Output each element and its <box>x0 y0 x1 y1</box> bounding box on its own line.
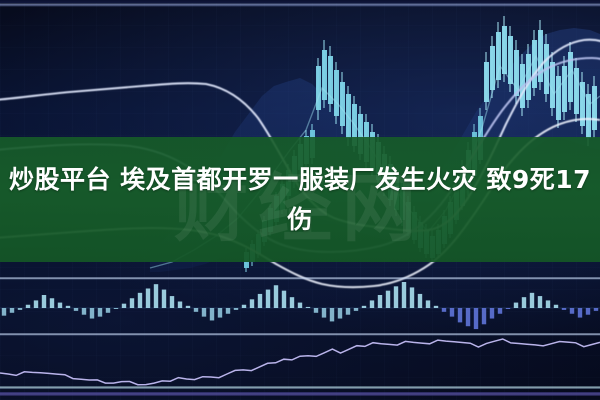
macd-bar <box>234 308 238 310</box>
macd-bar <box>322 308 326 318</box>
macd-bar <box>18 308 22 310</box>
macd-bar <box>538 296 542 308</box>
panel-divider-price-macd <box>0 277 600 280</box>
macd-bar <box>130 298 134 308</box>
macd-bar <box>434 306 438 308</box>
macd-bar <box>26 305 30 308</box>
line-pane <box>0 339 600 385</box>
macd-bar <box>2 308 6 316</box>
macd-bar <box>162 290 166 308</box>
macd-bar <box>354 308 358 311</box>
macd-bar <box>154 284 158 308</box>
macd-bar <box>562 308 566 310</box>
macd-bar <box>442 308 446 312</box>
macd-bar <box>546 300 550 308</box>
panel-divider-macd-line <box>0 333 600 336</box>
macd-bar <box>194 308 198 312</box>
macd-bar <box>50 298 54 308</box>
macd-bar <box>106 308 110 313</box>
macd-bar <box>522 297 526 308</box>
macd-bar <box>370 300 374 308</box>
macd-bar <box>242 305 246 308</box>
macd-bar <box>362 306 366 308</box>
indicator-line <box>0 339 600 385</box>
macd-bar <box>258 294 262 308</box>
macd-bar <box>450 308 454 317</box>
macd-bar <box>578 308 582 318</box>
macd-bar <box>554 305 558 308</box>
macd-bar <box>418 294 422 308</box>
macd-bar <box>570 308 574 314</box>
macd-bar <box>218 308 222 318</box>
panel-divider-bottom <box>0 386 600 389</box>
macd-bar <box>514 303 518 308</box>
macd-bar <box>498 308 502 314</box>
macd-bar <box>122 304 126 308</box>
macd-bar <box>482 308 486 324</box>
macd-bar <box>338 308 342 319</box>
macd-bar <box>10 308 14 313</box>
macd-bar <box>474 308 478 329</box>
macd-bar <box>298 303 302 308</box>
macd-bar <box>186 306 190 308</box>
macd-bar <box>314 308 318 313</box>
macd-bar <box>490 308 494 319</box>
news-thumbnail-image: 财经网 炒股平台 埃及首都开罗一服装厂发生火灾 致9死17伤 <box>0 0 600 400</box>
frame-top-highlight <box>0 3 600 7</box>
macd-bar <box>530 293 534 308</box>
macd-bar <box>178 302 182 309</box>
macd-bar <box>306 307 310 308</box>
macd-bar <box>170 296 174 308</box>
macd-bar <box>330 308 334 321</box>
macd-bar <box>202 308 206 317</box>
headline-text: 炒股平台 埃及首都开罗一服装厂发生火灾 致9死17伤 <box>0 160 600 240</box>
macd-bar <box>42 295 46 308</box>
macd-bar <box>586 308 590 315</box>
macd-bar <box>98 308 102 317</box>
macd-bar <box>226 308 230 314</box>
macd-bar <box>410 287 414 308</box>
macd-bar <box>58 303 62 308</box>
macd-bar <box>274 285 278 308</box>
macd-bar <box>66 306 70 308</box>
macd-bar <box>346 308 350 315</box>
macd-bar <box>466 308 470 326</box>
macd-bar <box>594 308 598 311</box>
macd-bar <box>82 308 86 315</box>
macd-bar <box>90 308 94 319</box>
macd-bar <box>34 300 38 308</box>
macd-bar <box>250 299 254 308</box>
macd-bar <box>282 291 286 308</box>
macd-bar <box>458 308 462 322</box>
macd-bar <box>266 290 270 308</box>
macd-bar <box>386 291 390 308</box>
macd-bar-series <box>2 282 598 329</box>
macd-bar <box>138 293 142 308</box>
macd-bar <box>290 297 294 308</box>
macd-bar <box>114 308 118 309</box>
macd-bar <box>74 308 78 311</box>
frame-bottom-accent <box>0 392 600 396</box>
macd-bar <box>402 282 406 308</box>
macd-bar <box>210 308 214 320</box>
macd-bar <box>378 295 382 308</box>
macd-bar <box>394 286 398 308</box>
macd-bar <box>146 289 150 309</box>
histogram-pane <box>0 282 600 329</box>
macd-bar <box>506 308 510 309</box>
macd-bar <box>426 300 430 308</box>
